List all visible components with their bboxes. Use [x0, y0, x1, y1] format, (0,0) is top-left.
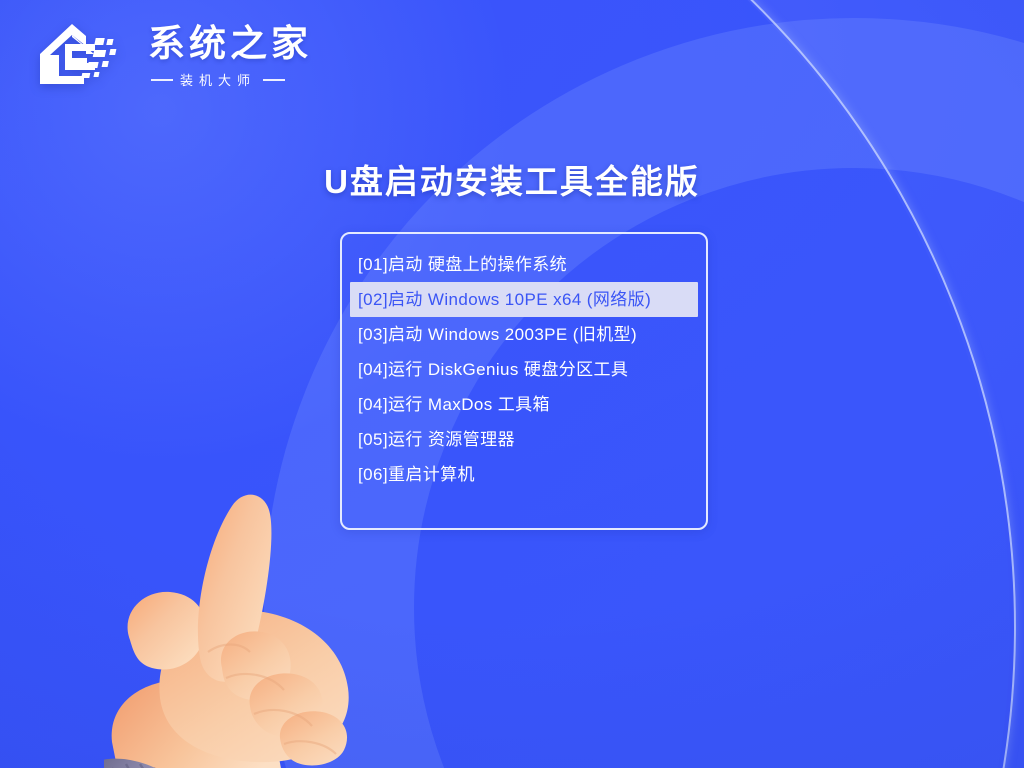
page-title: U盘启动安装工具全能版	[0, 155, 1024, 203]
boot-menu-item-2[interactable]: [02]启动 Windows 10PE x64 (网络版)	[350, 282, 698, 317]
boot-menu-item-3[interactable]: [03]启动 Windows 2003PE (旧机型)	[350, 317, 698, 352]
boot-menu-item-1[interactable]: [01]启动 硬盘上的操作系统	[350, 247, 698, 282]
rule-left-icon	[151, 79, 173, 81]
brand-title: 系统之家	[148, 25, 312, 64]
house-pixel-logo-icon	[38, 18, 134, 92]
boot-menu-screen: 系统之家 装机大师 U盘启动安装工具全能版 [01]启动 硬盘上的操作系统[02…	[0, 0, 1024, 768]
boot-menu-item-6[interactable]: [05]运行 资源管理器	[350, 422, 698, 457]
boot-menu-panel: [01]启动 硬盘上的操作系统[02]启动 Windows 10PE x64 (…	[340, 232, 708, 530]
rule-right-icon	[263, 79, 285, 81]
boot-menu-item-7[interactable]: [06]重启计算机	[350, 457, 698, 492]
brand-logo: 系统之家 装机大师	[38, 18, 312, 92]
brand-subtitle: 装机大师	[180, 70, 256, 89]
boot-menu-list: [01]启动 硬盘上的操作系统[02]启动 Windows 10PE x64 (…	[342, 247, 706, 492]
brand-wordmark: 系统之家 装机大师	[148, 21, 312, 90]
boot-menu-item-5[interactable]: [04]运行 MaxDos 工具箱	[350, 387, 698, 422]
brand-subtitle-row: 装机大师	[148, 70, 312, 89]
boot-menu-item-4[interactable]: [04]运行 DiskGenius 硬盘分区工具	[350, 352, 698, 387]
